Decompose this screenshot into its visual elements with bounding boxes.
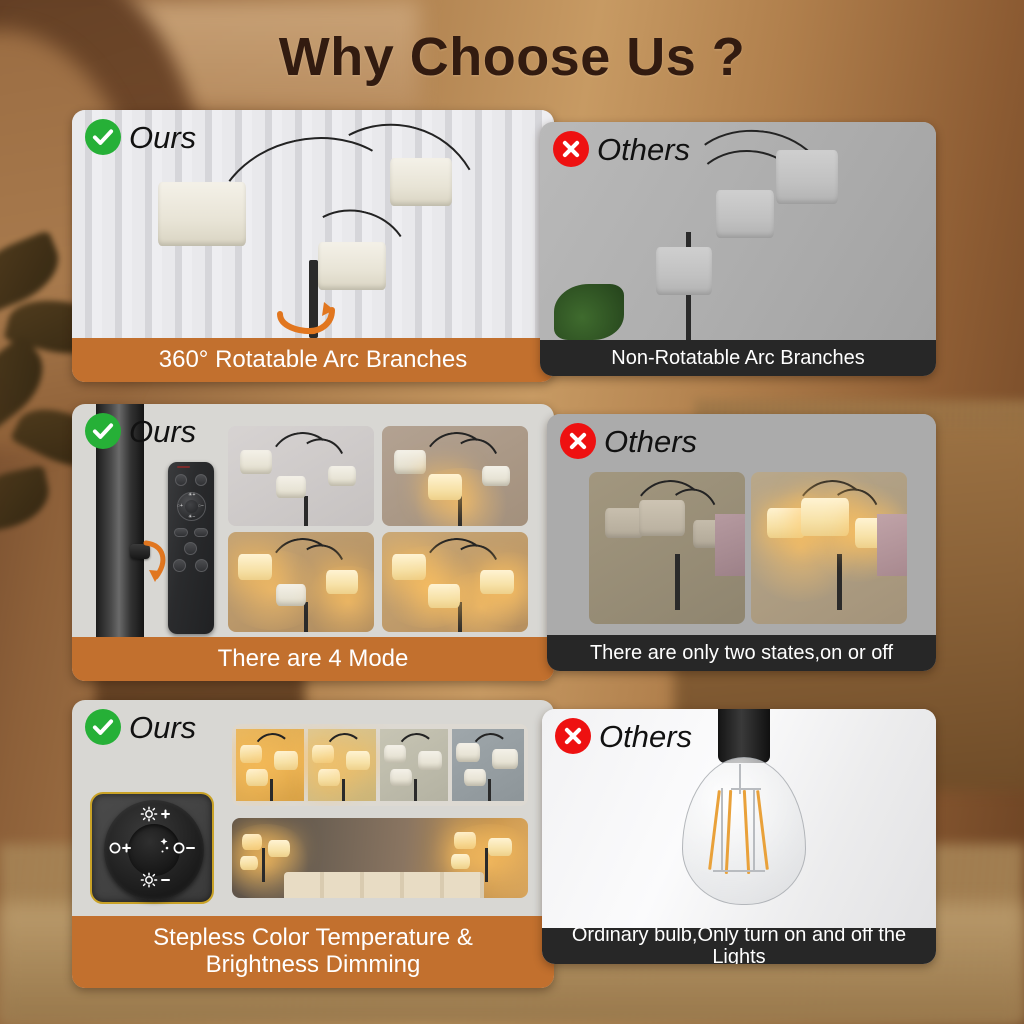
panel-ours-rotation: Ours 360° Rotatable Arc Branches [72,110,554,382]
others-photo-off [589,472,745,624]
caption-ours-rotation: 360° Rotatable Arc Branches [72,338,554,382]
panel-ours-modes: ☀+ ☀− ◌+ ◌− [72,404,554,681]
remote-button-power[interactable] [195,474,207,486]
panel-others-dimming-photo: Others [542,709,936,928]
remote-button-mode-a[interactable] [174,528,188,537]
check-circle-icon [85,119,121,155]
panel-others-modes-content: Others [547,414,936,635]
panel-others-rotation: Others Non-Rotatable Arc Branches [540,122,936,376]
check-circle-icon [85,413,121,449]
badge-ours-dimming: Ours [85,709,196,745]
caption-line-2: Brightness Dimming [206,952,421,979]
temp-swatch-4 [452,729,524,801]
sun-minus-icon [140,872,174,888]
lamp-shade-right [390,158,452,206]
others-photo-on [751,472,907,624]
lamp-shade-others-top [776,150,838,204]
mode-photo-2 [382,426,528,526]
bulb-socket [718,709,770,763]
panel-ours-rotation-photo: Ours [72,110,554,338]
badge-others-dimming: Others [555,718,692,754]
badge-label-ours: Ours [129,712,196,743]
page-title: Why Choose Us ? [0,26,1024,88]
badge-label-others: Others [597,134,690,165]
temp-swatch-2 [308,729,376,801]
lamp-shade-others-mid [716,190,774,238]
color-temperature-strip [232,724,528,806]
remote-night-mode-button[interactable] [185,500,198,513]
dimmer-control-pad[interactable] [90,792,214,904]
panel-ours-dimming: Ours Stepless Color Temperature & Bright… [72,700,554,988]
caption-others-modes: There are only two states,on or off [547,635,936,671]
badge-label-others: Others [604,426,697,457]
lamp-shade-left [158,182,246,246]
caption-line-1: Stepless Color Temperature & [153,925,473,952]
caption-ours-modes: There are 4 Mode [72,637,554,681]
caption-others-rotation: Non-Rotatable Arc Branches [540,340,936,376]
check-circle-icon [85,709,121,745]
moon-stars-icon [138,834,172,866]
mode-photo-3 [228,532,374,632]
rotation-arrow-icon [270,298,352,336]
remote-button-light-1[interactable] [184,542,197,555]
remote-button-light-2[interactable] [173,559,186,572]
circle-minus-icon [172,840,200,856]
panel-others-dimming: Others Ordinary bulb,Only turn on and of… [542,709,936,964]
badge-others-rotation: Others [553,131,690,167]
remote-button-light-3[interactable] [195,559,208,572]
room-panorama-photo [232,818,528,898]
temp-swatch-3 [380,729,448,801]
cross-circle-icon [555,718,591,754]
lamp-shade-others-low [656,247,712,295]
badge-ours-modes: Ours [85,413,196,449]
remote-control[interactable]: ☀+ ☀− ◌+ ◌− [168,462,214,634]
remote-button-mode-b[interactable] [194,528,208,537]
caption-ours-dimming: Stepless Color Temperature & Brightness … [72,916,554,988]
panel-ours-dimming-content: Ours [72,700,554,916]
panel-others-modes: Others There are only two states,on or o… [547,414,936,671]
badge-label-ours: Ours [129,122,196,153]
badge-others-modes: Others [560,423,697,459]
badge-ours-rotation: Ours [85,119,196,155]
temp-swatch-1 [236,729,304,801]
plant-others [554,284,624,340]
remote-ir-strip [177,466,190,468]
circle-plus-icon [108,840,136,856]
mode-photo-1 [228,426,374,526]
sun-plus-icon [140,806,174,822]
mode-photo-4 [382,532,528,632]
badge-label-ours: Ours [129,416,196,447]
caption-others-dimming: Ordinary bulb,Only turn on and off the L… [542,928,936,964]
remote-button-power-timer[interactable] [175,474,187,486]
cross-circle-icon [553,131,589,167]
badge-label-others: Others [599,721,692,752]
panel-others-rotation-photo: Others [540,122,936,340]
lamp-shade-center [318,242,386,290]
panel-ours-modes-content: ☀+ ☀− ◌+ ◌− [72,404,554,637]
cross-circle-icon [560,423,596,459]
sofa-in-photo [284,872,484,898]
